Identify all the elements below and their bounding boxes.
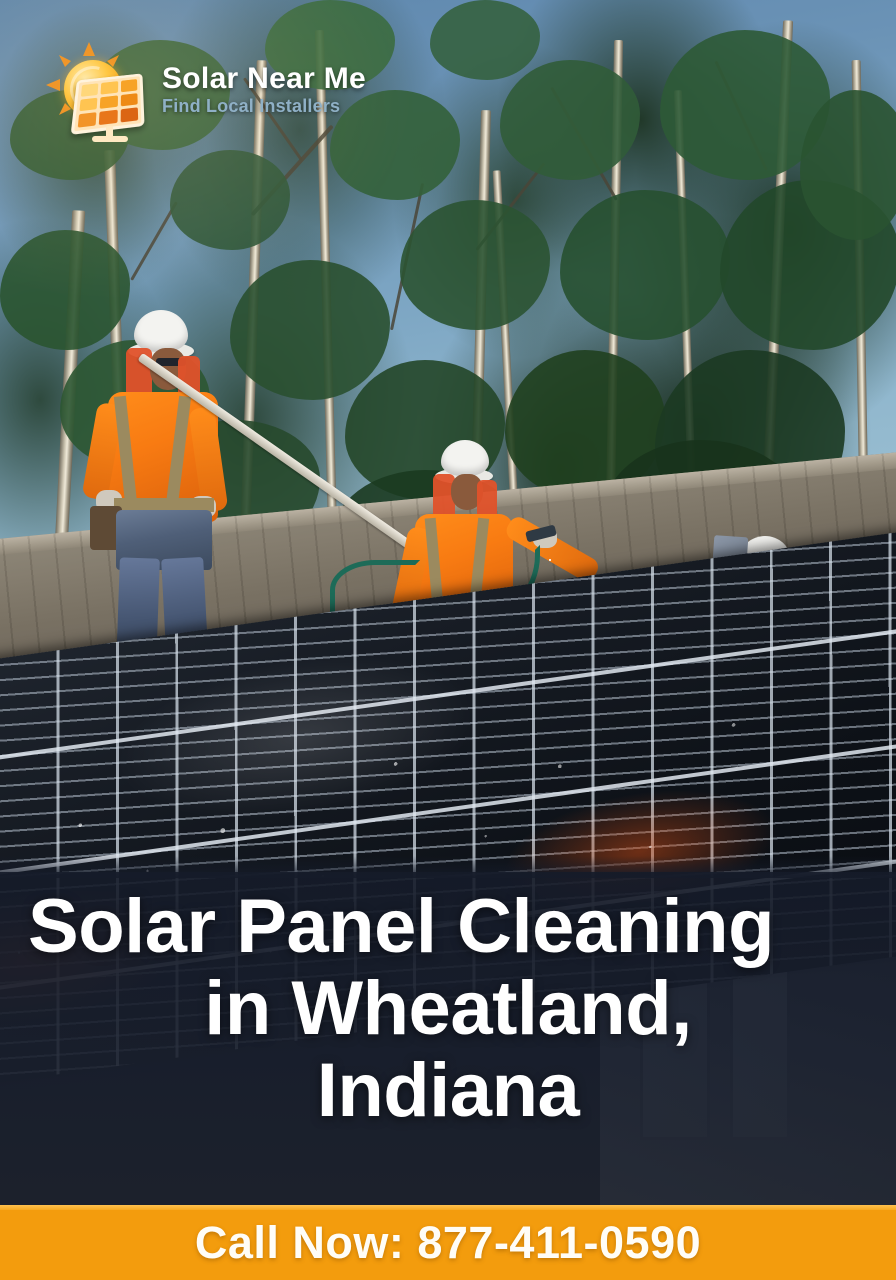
solar-panel-cleaning-poster: Solar Near Me Find Local Installers Sola… — [0, 0, 896, 1280]
hardhat-center — [441, 440, 489, 476]
call-now-bar[interactable]: Call Now: 877-411-0590 — [0, 1205, 896, 1280]
panel-base — [92, 136, 128, 142]
brand-name: Solar Near Me — [162, 63, 366, 95]
page-title-line-2: in Wheatland, — [28, 968, 868, 1050]
brand-text: Solar Near Me Find Local Installers — [162, 63, 366, 117]
worker-left — [60, 300, 260, 650]
page-title-line-1: Solar Panel Cleaning — [28, 886, 868, 968]
hardhat-left — [134, 310, 188, 352]
brand-tagline: Find Local Installers — [162, 95, 366, 117]
brand-logo[interactable]: Solar Near Me Find Local Installers — [44, 42, 366, 138]
call-now-label[interactable]: Call Now: 877-411-0590 — [195, 1217, 701, 1269]
page-title-line-3: Indiana — [28, 1050, 868, 1132]
page-title: Solar Panel Cleaning in Wheatland, India… — [0, 886, 896, 1132]
sun-solar-panel-icon — [44, 42, 150, 138]
